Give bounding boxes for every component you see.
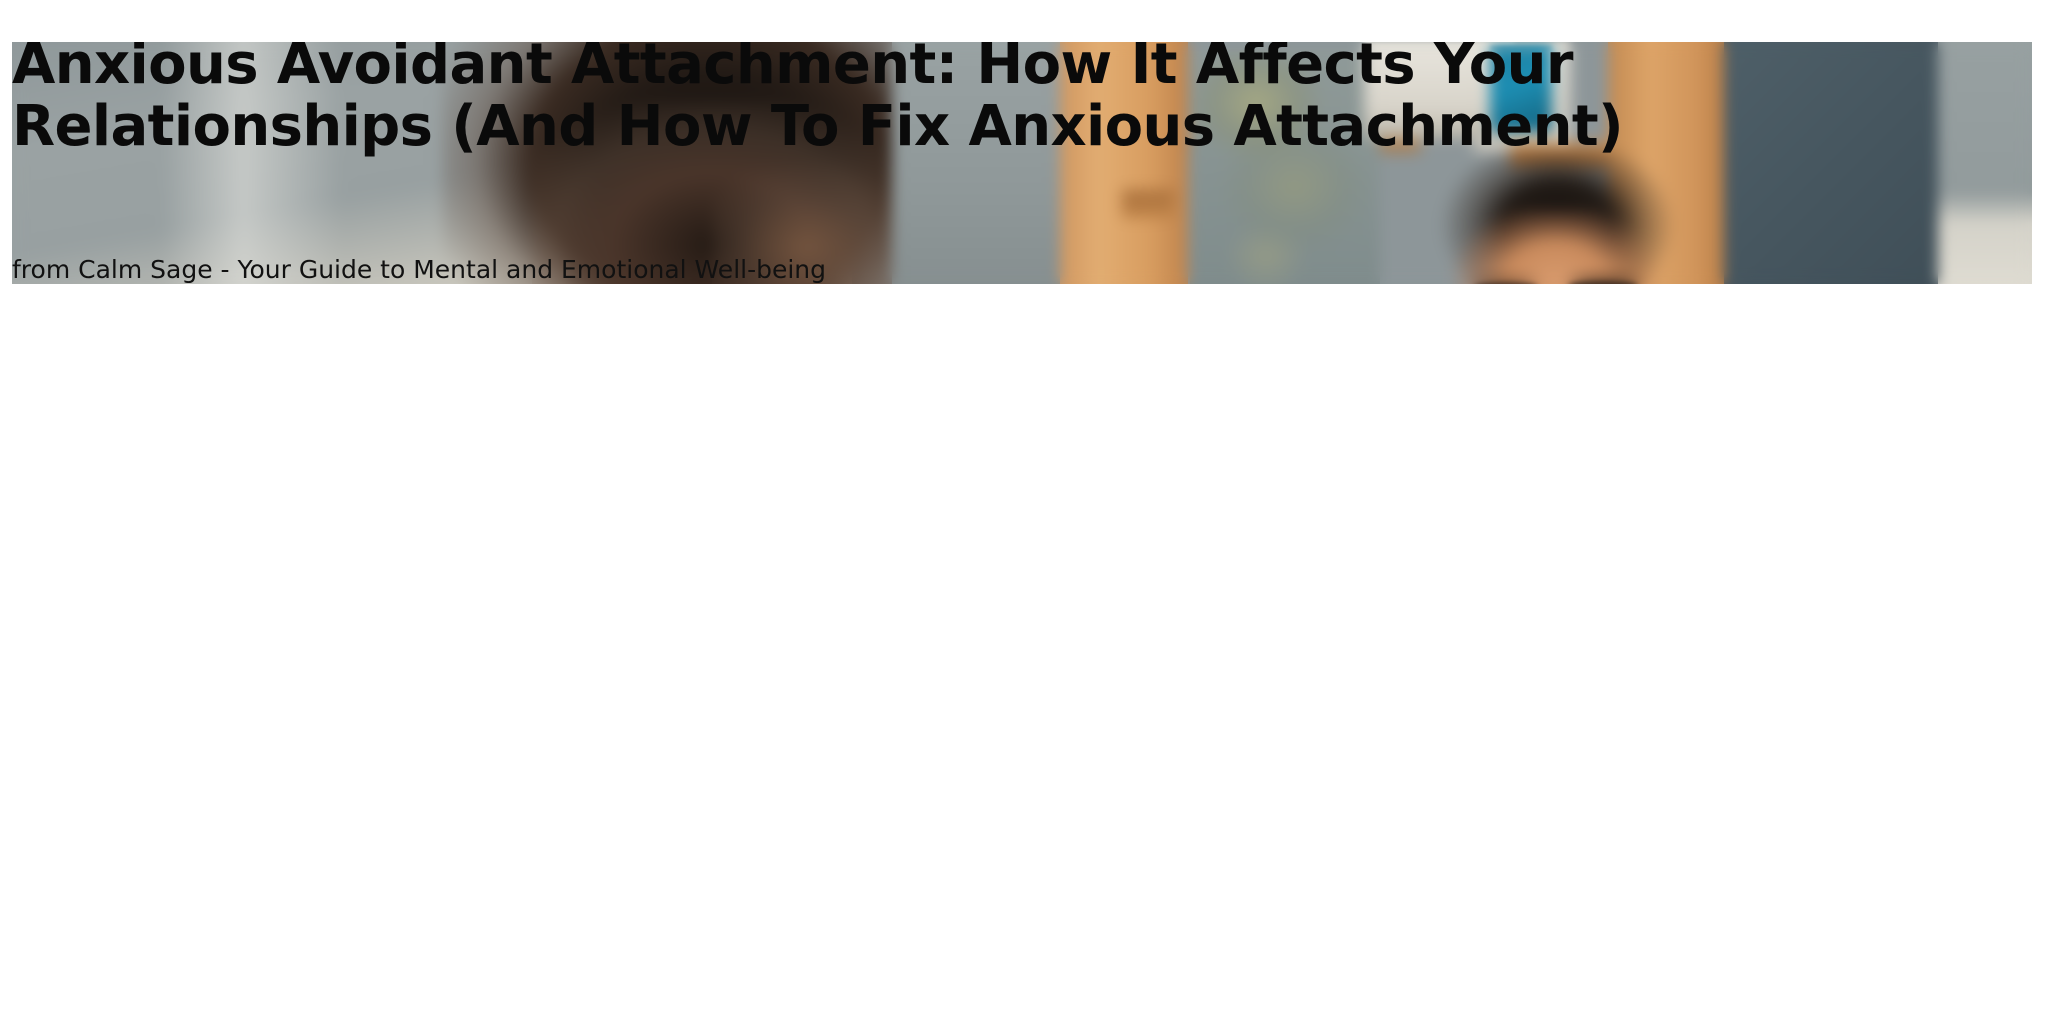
hero-text-overlay: Anxious Avoidant Attachment: How It Affe…	[12, 42, 2032, 284]
article-hero-header: Anxious Avoidant Attachment: How It Affe…	[12, 42, 2032, 284]
article-body-area	[0, 285, 2048, 1024]
article-source-attribution: from Calm Sage - Your Guide to Mental an…	[12, 255, 826, 284]
page-title: Anxious Avoidant Attachment: How It Affe…	[12, 42, 2012, 158]
article-page: Anxious Avoidant Attachment: How It Affe…	[0, 0, 2048, 1024]
